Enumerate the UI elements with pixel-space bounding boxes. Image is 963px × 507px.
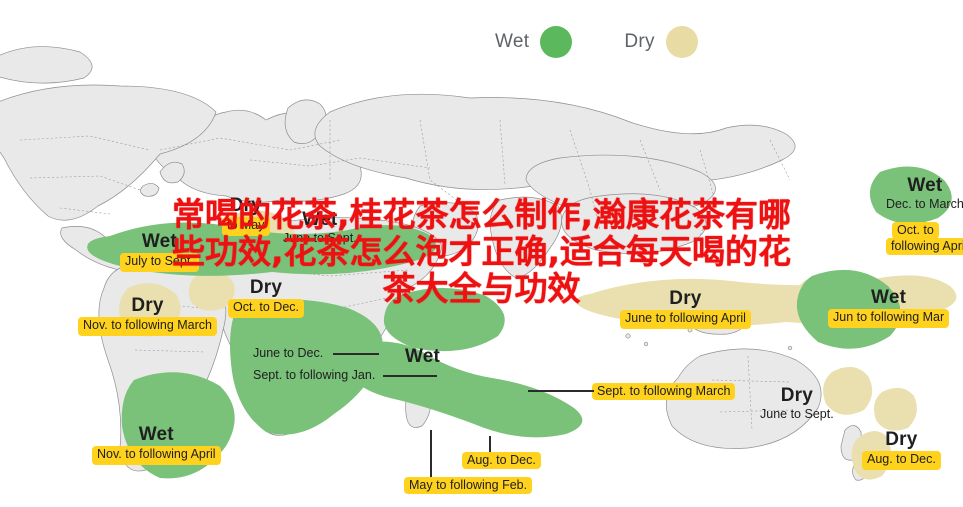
circle-swatch-icon-dry: [666, 26, 698, 58]
map-label-dry-east-africa: Dry Oct. to Dec.: [228, 278, 304, 318]
map-label-title: Wet: [120, 232, 199, 252]
callout-text: June to Dec.: [253, 346, 323, 360]
map-label-dry-india: Dry to May: [222, 196, 270, 236]
map-label-title: Dry: [862, 430, 941, 450]
callout-text: Aug. to Dec.: [462, 452, 541, 469]
map-label-period: Aug. to Dec.: [862, 451, 941, 470]
map-label-wet-india: Wet June to Sept.: [283, 210, 357, 246]
map-label-period: June to Sept.: [760, 406, 834, 422]
map-label-title: Dry: [760, 386, 834, 406]
callout-sept-following-march: Sept. to following March: [592, 383, 735, 400]
map-label-wet-australia: Wet Jun to following Mar: [828, 288, 949, 328]
map-label-wet-indian-ocean: Wet: [405, 347, 440, 367]
map-label-title: Wet: [92, 425, 221, 445]
map-label-period: Jun to following Mar: [828, 309, 949, 328]
map-label-wet-northeast: Wet Dec. to March: [886, 176, 963, 212]
map-label-title: Dry: [620, 289, 751, 309]
map-label-title: Wet: [886, 176, 963, 196]
callout-may-following-feb: May to following Feb.: [404, 477, 532, 494]
map-label-title: Wet: [405, 347, 440, 367]
map-label-period: June to Sept.: [283, 230, 357, 246]
circle-swatch-icon-wet: [540, 26, 572, 58]
map-label-period: Nov. to following April: [92, 446, 221, 465]
map-label-dry-sahel: Dry Nov. to following March: [78, 296, 217, 336]
map-label-period: Nov. to following March: [78, 317, 217, 336]
leader-line-aug-dec: [489, 436, 491, 452]
legend-label-wet: Wet: [495, 31, 529, 53]
map-legend: Wet Dry: [495, 26, 698, 58]
callout-following-april: following April: [886, 238, 963, 255]
callout-text: May to following Feb.: [404, 477, 532, 494]
callout-oct-to: Oct. to: [892, 222, 939, 239]
map-label-period: to May: [222, 217, 270, 236]
map-label-title: Dry: [228, 278, 304, 298]
callout-june-dec: June to Dec.: [253, 346, 323, 360]
map-label-title: Wet: [283, 210, 357, 230]
map-label-period: July to Sept.: [120, 253, 199, 272]
map-label-wet-china: Wet July to Sept.: [120, 232, 199, 272]
callout-text: Oct. to: [892, 222, 939, 239]
legend-item-dry: Dry: [624, 26, 697, 58]
leader-line-june-dec: [333, 353, 379, 355]
map-label-title: Wet: [828, 288, 949, 308]
map-label-period: Oct. to Dec.: [228, 299, 304, 318]
map-label-dry-pacific: Dry June to following April: [620, 289, 751, 329]
callout-text: Sept. to following Jan.: [253, 368, 375, 382]
leader-line-may-feb: [430, 430, 432, 477]
map-label-period: June to following April: [620, 310, 751, 329]
map-label-wet-south-america: Wet Nov. to following April: [92, 425, 221, 465]
legend-item-wet: Wet: [495, 26, 572, 58]
callout-sept-following-jan: Sept. to following Jan.: [253, 368, 375, 382]
legend-label-dry: Dry: [624, 31, 654, 53]
map-label-dry-south-america-east: Dry Aug. to Dec.: [862, 430, 941, 470]
callout-text: following April: [886, 238, 963, 255]
world-map-infographic: .land { fill:#e9e9e9; stroke:#8f8f8f; st…: [0, 0, 963, 507]
leader-line-sept-march: [528, 390, 594, 392]
map-label-title: Dry: [78, 296, 217, 316]
leader-line-sept-jan: [383, 375, 437, 377]
callout-aug-dec: Aug. to Dec.: [462, 452, 541, 469]
callout-text: Sept. to following March: [592, 383, 735, 400]
map-label-title: Dry: [222, 196, 270, 216]
map-label-dry-chile: Dry June to Sept.: [760, 386, 834, 422]
map-label-period: Dec. to March: [886, 196, 963, 212]
